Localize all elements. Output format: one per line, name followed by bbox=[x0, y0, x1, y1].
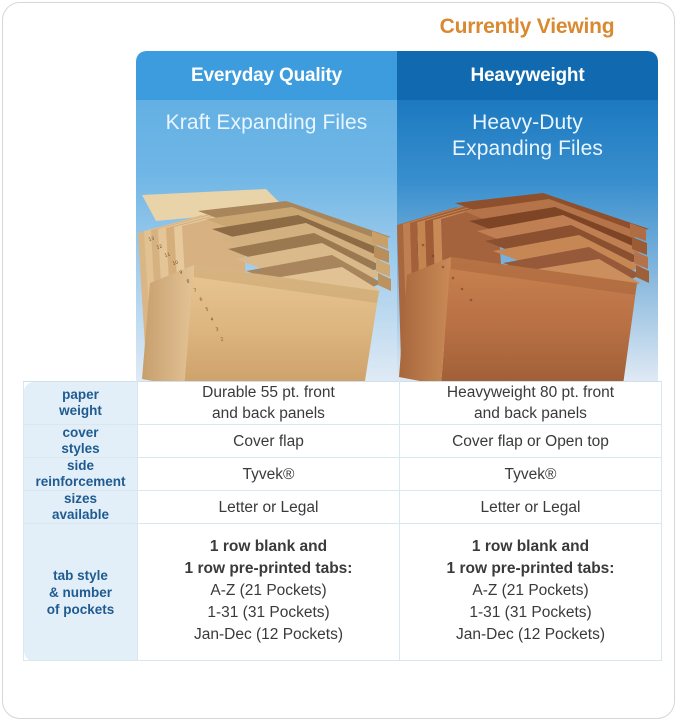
cell-line: A-Z (21 Pockets) bbox=[408, 580, 653, 602]
cell-line: A-Z (21 Pockets) bbox=[146, 580, 391, 602]
cell-line: Jan-Dec (12 Pockets) bbox=[408, 624, 653, 646]
cell-line: Cover flap bbox=[138, 431, 399, 452]
cell-heavyweight-paper-weight: Heavyweight 80 pt. front and back panels bbox=[400, 382, 662, 425]
cell-line: 1 row pre-printed tabs: bbox=[408, 558, 653, 580]
table-row: side reinforcement Tyvek® Tyvek® bbox=[24, 458, 662, 491]
cell-line: Jan-Dec (12 Pockets) bbox=[146, 624, 391, 646]
product-panel-everyday-quality[interactable]: Everyday Quality Kraft Expanding Files bbox=[136, 51, 397, 381]
cell-line: 1 row blank and bbox=[146, 536, 391, 558]
product-panel-heavyweight[interactable]: Heavyweight Heavy-Duty Expanding Files bbox=[397, 51, 658, 381]
row-label-line: weight bbox=[24, 403, 137, 419]
panel-subtitle-everyday-quality: Kraft Expanding Files bbox=[136, 110, 397, 136]
comparison-table: paper weight Durable 55 pt. front and ba… bbox=[23, 381, 662, 661]
panel-body-heavyweight: Heavy-Duty Expanding Files bbox=[397, 100, 658, 381]
comparison-table-body: paper weight Durable 55 pt. front and ba… bbox=[24, 382, 662, 661]
table-row: paper weight Durable 55 pt. front and ba… bbox=[24, 382, 662, 425]
panel-body-everyday-quality: Kraft Expanding Files bbox=[136, 100, 397, 381]
row-label-line: available bbox=[24, 507, 137, 523]
cell-line: 1 row pre-printed tabs: bbox=[146, 558, 391, 580]
cell-heavyweight-cover-styles: Cover flap or Open top bbox=[400, 425, 662, 458]
table-row: tab style & number of pockets 1 row blan… bbox=[24, 524, 662, 661]
cell-everyday-sizes-available: Letter or Legal bbox=[138, 491, 400, 524]
panel-subtitle-heavyweight: Heavy-Duty Expanding Files bbox=[397, 110, 658, 162]
panel-subtitle-line: Expanding Files bbox=[397, 136, 658, 162]
row-label-side-reinforcement: side reinforcement bbox=[24, 458, 138, 491]
row-label-tab-style: tab style & number of pockets bbox=[24, 524, 138, 661]
cell-heavyweight-sizes-available: Letter or Legal bbox=[400, 491, 662, 524]
row-label-line: styles bbox=[24, 441, 137, 457]
row-label-line: reinforcement bbox=[24, 474, 137, 490]
row-label-line: of pockets bbox=[24, 601, 137, 618]
panel-title-everyday-quality: Everyday Quality bbox=[136, 51, 397, 100]
row-label-line: paper bbox=[24, 387, 137, 403]
cell-line: 1-31 (31 Pockets) bbox=[146, 602, 391, 624]
cell-line: Cover flap or Open top bbox=[400, 431, 661, 452]
panel-subtitle-line: Kraft Expanding Files bbox=[136, 110, 397, 136]
cell-everyday-cover-styles: Cover flap bbox=[138, 425, 400, 458]
heavy-duty-expanding-file-image bbox=[397, 185, 658, 381]
table-row: cover styles Cover flap Cover flap or Op… bbox=[24, 425, 662, 458]
cell-line: and back panels bbox=[138, 403, 399, 424]
row-label-cover-styles: cover styles bbox=[24, 425, 138, 458]
cell-line: Tyvek® bbox=[400, 464, 661, 485]
row-label-line: side bbox=[24, 458, 137, 474]
cell-line: Heavyweight 80 pt. front bbox=[400, 382, 661, 403]
kraft-expanding-file-image: 13 12 11 10 9 8 7 6 5 4 3 2 bbox=[136, 187, 397, 381]
row-label-line: sizes bbox=[24, 491, 137, 507]
cell-line: Tyvek® bbox=[138, 464, 399, 485]
cell-everyday-tab-style: 1 row blank and 1 row pre-printed tabs: … bbox=[138, 524, 400, 661]
cell-everyday-paper-weight: Durable 55 pt. front and back panels bbox=[138, 382, 400, 425]
panel-title-heavyweight: Heavyweight bbox=[397, 51, 658, 100]
currently-viewing-banner: Currently Viewing bbox=[397, 15, 657, 39]
row-label-line: tab style bbox=[24, 567, 137, 584]
row-label-sizes-available: sizes available bbox=[24, 491, 138, 524]
row-label-line: & number bbox=[24, 584, 137, 601]
cell-line: 1-31 (31 Pockets) bbox=[408, 602, 653, 624]
cell-line: Letter or Legal bbox=[400, 497, 661, 518]
comparison-card: Currently Viewing Everyday Quality Kraft… bbox=[2, 2, 675, 719]
cell-heavyweight-side-reinforcement: Tyvek® bbox=[400, 458, 662, 491]
cell-heavyweight-tab-style: 1 row blank and 1 row pre-printed tabs: … bbox=[400, 524, 662, 661]
cell-line: and back panels bbox=[400, 403, 661, 424]
row-label-line: cover bbox=[24, 425, 137, 441]
cell-line: 1 row blank and bbox=[408, 536, 653, 558]
row-label-paper-weight: paper weight bbox=[24, 382, 138, 425]
panel-subtitle-line: Heavy-Duty bbox=[397, 110, 658, 136]
product-panels: Everyday Quality Kraft Expanding Files bbox=[136, 51, 658, 381]
cell-line: Durable 55 pt. front bbox=[138, 382, 399, 403]
table-row: sizes available Letter or Legal Letter o… bbox=[24, 491, 662, 524]
cell-line: Letter or Legal bbox=[138, 497, 399, 518]
cell-everyday-side-reinforcement: Tyvek® bbox=[138, 458, 400, 491]
